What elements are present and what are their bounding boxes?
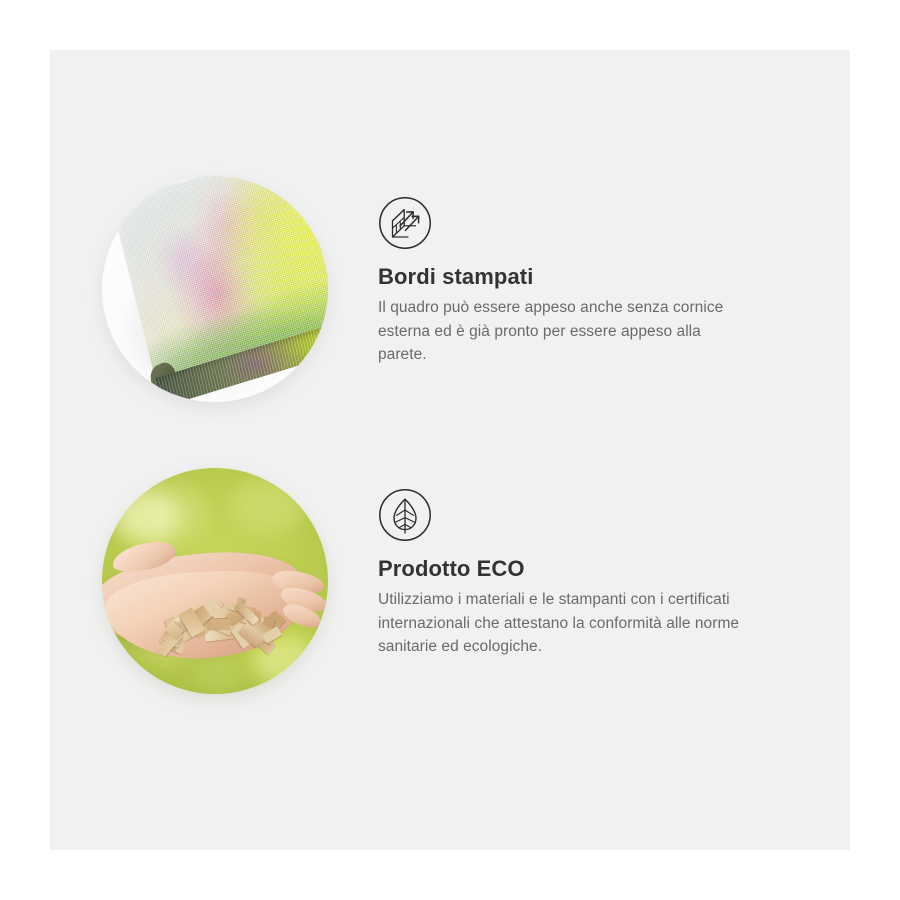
- feature-image-eco-product: [102, 468, 330, 700]
- canvas-photo-circle: [102, 176, 328, 402]
- feature-block-printed-edges: Bordi stampati Il quadro può essere appe…: [102, 176, 750, 408]
- printed-edges-icon: [378, 196, 432, 250]
- bokeh-spot: [192, 654, 244, 692]
- feature-image-printed-edges: [102, 176, 330, 408]
- wood-chips: [152, 588, 284, 658]
- eco-photo-circle: [102, 468, 328, 694]
- wood-chip: [209, 618, 230, 629]
- feature-title: Bordi stampati: [378, 264, 750, 290]
- feature-description: Utilizziamo i materiali e le stampanti c…: [378, 588, 750, 659]
- cupped-hands: [102, 536, 328, 656]
- feature-title: Prodotto ECO: [378, 556, 750, 582]
- page-root: Bordi stampati Il quadro può essere appe…: [0, 0, 900, 900]
- feature-text-printed-edges: Bordi stampati Il quadro può essere appe…: [378, 176, 750, 367]
- leaf-icon: [378, 488, 432, 542]
- bokeh-spot: [116, 494, 178, 542]
- bokeh-spot: [230, 478, 304, 534]
- feature-text-eco-product: Prodotto ECO Utilizziamo i materiali e l…: [378, 468, 750, 659]
- feature-block-eco-product: Prodotto ECO Utilizziamo i materiali e l…: [102, 468, 750, 700]
- content-panel: Bordi stampati Il quadro può essere appe…: [50, 50, 850, 850]
- feature-description: Il quadro può essere appeso anche senza …: [378, 296, 750, 367]
